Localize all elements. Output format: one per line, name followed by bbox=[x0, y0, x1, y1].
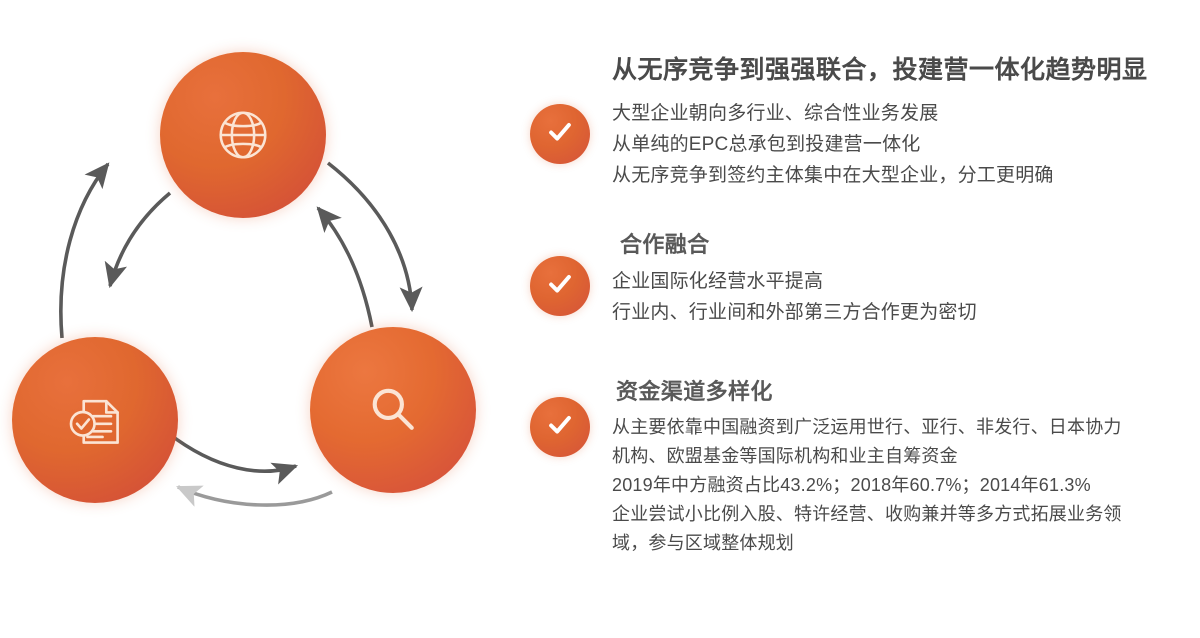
section-1-body: 大型企业朝向多行业、综合性业务发展 从单纯的EPC总承包到投建营一体化 从无序竞… bbox=[612, 98, 1192, 191]
check-bullet-2 bbox=[530, 256, 590, 316]
arrow-globe-to-doc bbox=[110, 193, 170, 286]
page-title: 从无序竞争到强强联合，投建营一体化趋势明显 bbox=[612, 50, 1192, 86]
section-3-line-1: 从主要依靠中国融资到广泛运用世行、亚行、非发行、日本协力 bbox=[612, 413, 1192, 442]
document-check-icon bbox=[63, 388, 127, 452]
section-3-body: 资金渠道多样化 从主要依靠中国融资到广泛运用世行、亚行、非发行、日本协力 机构、… bbox=[612, 375, 1192, 558]
section-1-line-1: 大型企业朝向多行业、综合性业务发展 bbox=[612, 98, 1192, 129]
section-3-line-3: 2019年中方融资占比43.2%；2018年60.7%；2014年61.3% bbox=[612, 471, 1192, 500]
section-3-line-4: 企业尝试小比例入股、特许经营、收购兼并等多方式拓展业务领 bbox=[612, 500, 1192, 529]
check-icon bbox=[545, 410, 575, 445]
section-3-heading: 资金渠道多样化 bbox=[612, 375, 1192, 409]
check-icon bbox=[545, 117, 575, 152]
cycle-node-document[interactable] bbox=[12, 337, 178, 503]
section-2-heading: 合作融合 bbox=[612, 228, 1192, 262]
arrow-search-to-globe bbox=[318, 208, 372, 327]
cycle-node-globe[interactable] bbox=[160, 52, 326, 218]
section-1-line-2: 从单纯的EPC总承包到投建营一体化 bbox=[612, 129, 1192, 160]
cycle-diagram bbox=[0, 0, 510, 638]
section-2-line-2: 行业内、行业间和外部第三方合作更为密切 bbox=[612, 297, 1192, 328]
arrow-doc-to-search bbox=[168, 433, 296, 471]
check-icon bbox=[545, 269, 575, 304]
section-1-line-3: 从无序竞争到签约主体集中在大型企业，分工更明确 bbox=[612, 160, 1192, 191]
check-bullet-1 bbox=[530, 104, 590, 164]
section-2-body: 合作融合 企业国际化经营水平提高 行业内、行业间和外部第三方合作更为密切 bbox=[612, 228, 1192, 328]
content-column: 从无序竞争到强强联合，投建营一体化趋势明显 大型企业朝向多行业、综合性业务发展 … bbox=[510, 0, 1200, 638]
arrow-search-to-doc bbox=[178, 487, 332, 505]
magnifier-icon bbox=[363, 380, 423, 440]
section-3-line-5: 域，参与区域整体规划 bbox=[612, 529, 1192, 558]
arrow-doc-to-globe bbox=[61, 164, 108, 338]
cycle-node-search[interactable] bbox=[310, 327, 476, 493]
slide-canvas: 从无序竞争到强强联合，投建营一体化趋势明显 大型企业朝向多行业、综合性业务发展 … bbox=[0, 0, 1200, 638]
section-3-line-2: 机构、欧盟基金等国际机构和业主自筹资金 bbox=[612, 442, 1192, 471]
globe-icon bbox=[212, 104, 274, 166]
check-bullet-3 bbox=[530, 397, 590, 457]
section-2-line-1: 企业国际化经营水平提高 bbox=[612, 266, 1192, 297]
